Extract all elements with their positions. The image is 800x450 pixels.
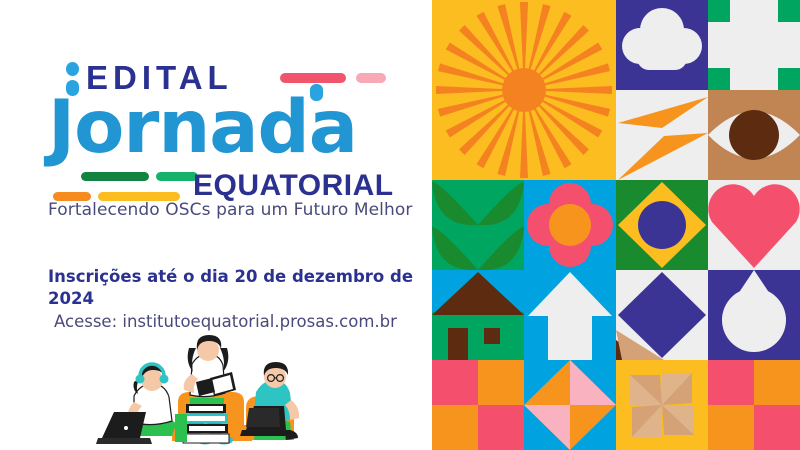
poster-root: EDITAL Jornada EQUATORIAL Fortalecendo O…: [0, 0, 800, 450]
orange-square-c: [754, 360, 800, 405]
students-illustration-svg: [86, 330, 326, 450]
arrow-up-cell: [524, 270, 616, 360]
pink-square-a: [432, 360, 478, 405]
checker-right-group: [708, 360, 800, 450]
green-dark-accent-bar: [81, 172, 149, 181]
student-left: [96, 364, 176, 444]
eye-cell: [708, 90, 800, 180]
checker-left-group: [432, 360, 524, 450]
house-cell: [432, 270, 524, 360]
green-light-accent-bar: [156, 172, 198, 181]
brazil-diamond-cell: [616, 180, 708, 270]
pink-square-d: [754, 405, 800, 450]
equatorial-wordmark: EQUATORIAL: [193, 168, 394, 204]
diamond-quad-cell: [524, 360, 616, 450]
blue-diamond-cell: [616, 270, 708, 360]
lightning-cell: [616, 90, 708, 180]
cloud-cell: [616, 0, 708, 90]
red-accent-bar: [280, 73, 346, 83]
tagline-text: Fortalecendo OSCs para um Futuro Melhor: [48, 200, 412, 220]
leaf-cell: [432, 180, 524, 270]
orange-square-a: [478, 360, 524, 405]
pink-square-b: [478, 405, 524, 450]
sun-cell: [432, 0, 616, 180]
pink-accent-bar: [356, 73, 386, 83]
flower-cell: [524, 180, 616, 270]
call-to-action-block: Inscrições até o dia 20 de dezembro de 2…: [48, 266, 418, 334]
pink-square-c: [708, 360, 754, 405]
cross-cell: [708, 0, 800, 90]
jornada-wordmark: Jornada: [48, 86, 357, 170]
orange-square-b: [432, 405, 478, 450]
left-content-panel: EDITAL Jornada EQUATORIAL Fortalecendo O…: [0, 0, 432, 450]
heart-cell: [708, 180, 800, 270]
water-drop-cell: [708, 270, 800, 360]
students-illustration: [86, 330, 326, 450]
deadline-text: Inscrições até o dia 20 de dezembro de 2…: [48, 266, 418, 310]
pattern-svg: [432, 0, 800, 450]
pinwheel-cell: [616, 360, 708, 450]
geometric-pattern-grid: [432, 0, 800, 450]
orange-square-d: [708, 405, 754, 450]
